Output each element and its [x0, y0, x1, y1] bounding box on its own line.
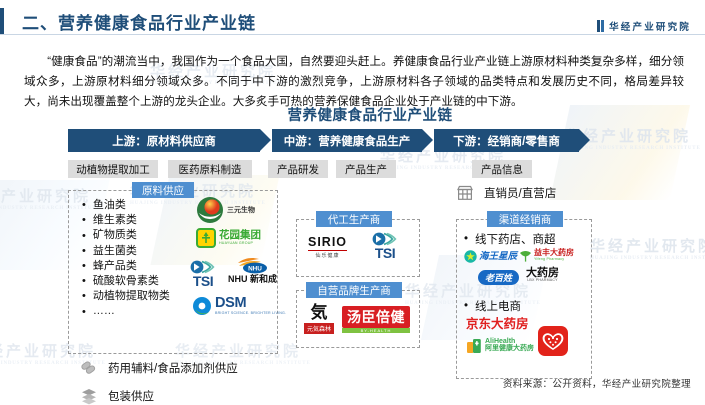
bullet-icon: •	[82, 307, 86, 318]
logo-yifeng-pharmacy: 益丰大药房 Yifeng Pharmacy	[519, 248, 574, 263]
sanyuan-logo-icon	[196, 196, 224, 224]
logo-huayuan-group: 花园集团 HUAYUAN GROUP	[196, 228, 261, 248]
yifeng-leaf-icon	[519, 248, 532, 263]
row-label: 药用辅料/食品添加剂供应	[108, 360, 238, 376]
logo-sublabel: BRIGHT SCIENCE. BRIGHTER LIVING.	[215, 312, 286, 316]
channel-label: 线上电商	[475, 298, 521, 314]
logo-haiwang-xingchen: 海王星辰	[464, 250, 517, 263]
logo-sirio: SIRIO 仙乐健康	[308, 236, 347, 259]
arrow-tip-icon	[260, 129, 271, 151]
row-label: 包装供应	[108, 388, 154, 404]
logo-by-health: 汤臣倍健 BY-HEALTH	[342, 306, 410, 333]
tsi-logo-icon	[190, 260, 216, 274]
list-item-label: 鱼油类	[93, 198, 126, 213]
heart-app-icon	[538, 326, 568, 356]
midstream-brand-label: 自营品牌生产商	[306, 282, 402, 298]
midstream-oem-label: 代工生产商	[316, 211, 392, 227]
list-item: •维生素类	[82, 213, 170, 228]
list-item-label: 矿物质类	[93, 228, 137, 243]
stage-banner-upstream: 上游：原材料供应商	[68, 129, 260, 152]
header-divider	[0, 34, 705, 35]
sub-chip-product-rd: 产品研发	[268, 160, 328, 178]
logo-sublabel: HUAYUAN GROUP	[219, 242, 261, 246]
logo-tsi: TSI	[190, 260, 216, 288]
huayuan-logo-icon	[196, 228, 216, 248]
dsm-logo-icon	[192, 296, 212, 316]
row-label: 直销员/直营店	[484, 185, 556, 201]
logo-sublabel: 阿里健康大药房	[485, 345, 534, 353]
alihealth-icon	[466, 338, 482, 354]
list-item-label: 益生菌类	[93, 244, 137, 259]
logo-dsm: DSM BRIGHT SCIENCE. BRIGHTER LIVING.	[192, 296, 286, 316]
sub-chip-product-info: 产品信息	[472, 160, 532, 178]
sub-chip-pharma-material: 医药原料制造	[168, 160, 252, 178]
list-item-label: ……	[93, 304, 115, 319]
list-item: •矿物质类	[82, 228, 170, 243]
store-icon	[456, 184, 474, 202]
list-item-label: 维生素类	[93, 213, 137, 228]
upstream-panel-label: 原料供应	[132, 182, 194, 198]
downstream-channel-label: 渠道经销商	[487, 211, 563, 227]
book-mark-icon	[597, 20, 605, 32]
sub-chip-product-manufacture: 产品生产	[336, 160, 396, 178]
header-accent-bar	[0, 8, 4, 34]
logo-label: DSM	[215, 296, 286, 311]
bullet-icon: •	[82, 276, 86, 287]
sub-chip-plant-extraction: 动植物提取加工	[68, 160, 158, 178]
logo-sublabel: LBX PHARMACY	[527, 279, 558, 283]
logo-label: TSI	[193, 274, 213, 288]
package-stack-icon	[80, 387, 98, 405]
logo-laobaixing: 老百姓	[478, 270, 519, 285]
stage-label: 上游：原材料供应商	[112, 133, 216, 149]
list-item: •……	[82, 304, 170, 319]
haiwang-logo-icon	[464, 250, 477, 263]
downstream-channel-offline: • 线下药店、商超	[464, 231, 556, 247]
source-note: 资料来源：公开资料，华经产业研究院整理	[503, 376, 691, 390]
brand-name: 华经产业研究院	[609, 19, 691, 33]
logo-nhu-xinhecheng: NHU NHU 新和成	[228, 256, 277, 284]
logo-alihealth: AliHealth 阿里健康大药房	[466, 338, 534, 354]
stage-label: 下游：经销商/零售商	[453, 133, 560, 149]
arrow-tip-icon	[422, 129, 433, 151]
logo-label: TSI	[375, 246, 395, 260]
bullet-icon: •	[82, 231, 86, 242]
logo-label: 老百姓	[478, 270, 519, 285]
arrow-tip-icon	[579, 129, 590, 151]
brand-logo: 华经产业研究院	[597, 19, 691, 33]
list-item: •鱼油类	[82, 198, 170, 213]
logo-sublabel: Yifeng Pharmacy	[534, 258, 574, 262]
figure-title: 营养健康食品行业产业链	[60, 104, 680, 125]
list-item-label: 硫酸软骨素类	[93, 274, 159, 289]
page-title: 二、营养健康食品行业产业链	[22, 9, 256, 34]
logo-lbx-pharmacy: 大药房 LBX PHARMACY	[526, 268, 559, 283]
list-item: •硫酸软骨素类	[82, 274, 170, 289]
bullet-icon: •	[464, 300, 468, 312]
downstream-direct-sales-row: 直销员/直营店	[456, 184, 556, 202]
logo-sublabel: BY-HEALTH	[342, 328, 410, 333]
bullet-icon: •	[464, 233, 468, 245]
bullet-icon: •	[82, 200, 86, 211]
intro-paragraph: “健康食品”的潮流当中，我国作为一个食品大国，自然要迎头赶上。养健康食品行业产业…	[24, 52, 684, 112]
logo-yuanqisenlin: 気 元気森林	[304, 304, 334, 334]
industry-chain-figure: 营养健康食品行业产业链 上游：原材料供应商 中游：营养健康食品生产 下游：经销商…	[60, 104, 680, 374]
logo-sublabel: 仙乐健康	[316, 252, 340, 259]
logo-label: 元気森林	[304, 323, 334, 334]
svg-text:NHU: NHU	[248, 265, 262, 272]
logo-mark: 気	[311, 304, 328, 321]
bullet-icon: •	[82, 215, 86, 226]
list-item: •动植物提取物类	[82, 289, 170, 304]
list-item-label: 动植物提取物类	[93, 289, 170, 304]
logo-label: 益丰大药房	[534, 249, 574, 257]
channel-label: 线下药店、商超	[475, 231, 556, 247]
logo-jd-pharmacy: 京东大药房	[466, 318, 529, 331]
bullet-icon: •	[82, 246, 86, 257]
nhu-logo-icon: NHU	[236, 256, 270, 274]
capsule-icon	[80, 359, 98, 377]
logo-label: NHU 新和成	[228, 275, 277, 284]
logo-label: 京东大药房	[466, 318, 529, 331]
list-item: •益生菌类	[82, 244, 170, 259]
bullet-icon: •	[82, 261, 86, 272]
list-item: •蜂产品类	[82, 259, 170, 274]
tsi-logo-icon	[372, 232, 398, 246]
upstream-extra-row-excipients: 药用辅料/食品添加剂供应	[80, 359, 238, 377]
logo-label: SIRIO	[308, 236, 347, 251]
stage-banner-downstream: 下游：经销商/零售商	[434, 129, 579, 152]
logo-sanyuan-shengwu: 三元生物	[196, 196, 255, 224]
upstream-extra-row-packaging: 包装供应	[80, 387, 154, 405]
logo-heart-app	[538, 326, 568, 356]
bullet-icon: •	[82, 291, 86, 302]
logo-tsi: TSI	[372, 232, 398, 260]
logo-label: 三元生物	[227, 207, 255, 214]
stage-label: 中游：营养健康食品生产	[284, 133, 411, 149]
upstream-material-list: •鱼油类 •维生素类 •矿物质类 •益生菌类 •蜂产品类 •硫酸软骨素类 •动植…	[82, 198, 170, 320]
page-header: 二、营养健康食品行业产业链 华经产业研究院	[0, 8, 705, 34]
list-item-label: 蜂产品类	[93, 259, 137, 274]
logo-label: 海王星辰	[479, 252, 517, 262]
stage-banner-midstream: 中游：营养健康食品生产	[272, 129, 422, 152]
downstream-channel-online: • 线上电商	[464, 298, 521, 314]
logo-label: 花园集团	[219, 230, 261, 241]
logo-label: 汤臣倍健	[342, 306, 410, 328]
